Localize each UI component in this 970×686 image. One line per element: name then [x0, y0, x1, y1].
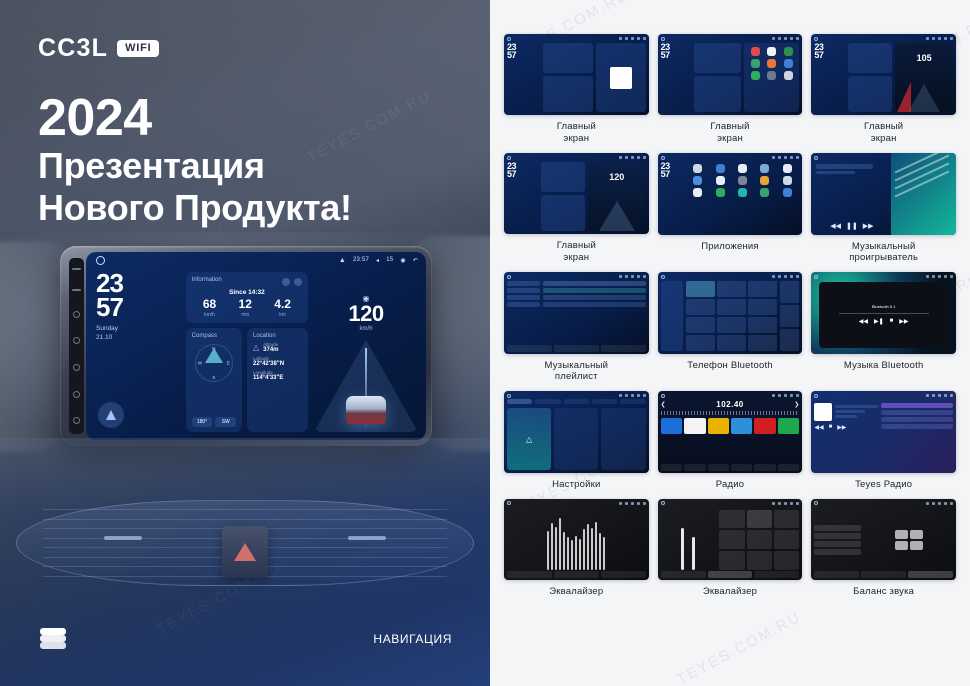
vent-slider-left[interactable] — [104, 536, 142, 540]
gallery-item[interactable]: Телефон Bluetooth — [658, 272, 803, 383]
head-unit-screen[interactable]: ▲ 23:57 ◂ 15 ◉ ↶ 23 57 Sunday 21.1 — [86, 252, 426, 440]
reset-icon[interactable] — [294, 278, 302, 286]
clock-day: Sunday — [96, 325, 180, 334]
thumbnail-sound-balance[interactable] — [811, 499, 956, 580]
thumbnail-home-drive2[interactable]: 2357 120 — [504, 153, 649, 234]
hero-panel: TEYES.COM.RU TEYES.COM.RU TEYES.COM.RU C… — [0, 0, 490, 686]
clock-widget[interactable]: 23 57 Sunday 21.10 — [96, 272, 180, 432]
thumbnail-home-media[interactable]: 2357 — [504, 34, 649, 115]
backspace-icon[interactable] — [780, 305, 799, 327]
caption: Главныйэкран — [864, 121, 903, 145]
gallery-item[interactable]: 2357 105 Главныйэкран — [811, 34, 956, 145]
caption: Эквалайзер — [703, 586, 757, 598]
speed-value: 120 — [314, 303, 418, 325]
longitude-value: 114°4'33"E — [253, 375, 302, 381]
car-3d-model — [346, 396, 386, 424]
clock-minutes: 57 — [96, 296, 180, 320]
compass-widget[interactable]: Compass N E S W 180° SW — [186, 328, 242, 432]
gallery-item[interactable]: Bluetooth 5.1 ◀◀ ▶❚ ■ ▶▶ Музыка Bluetoot… — [811, 272, 956, 383]
call-icon[interactable] — [780, 329, 799, 351]
brand-logo: CC3L WIFI — [38, 34, 159, 63]
thumb-speed: 120 — [588, 172, 646, 182]
volume-icon[interactable]: ◂ — [376, 257, 379, 264]
thumbnail-bt-music[interactable]: Bluetooth 5.1 ◀◀ ▶❚ ■ ▶▶ — [811, 272, 956, 353]
gallery-item[interactable]: △ Настройки — [504, 391, 649, 490]
prev-station-icon[interactable]: ❮ — [661, 401, 666, 408]
play-pause-icon[interactable]: ▶❚ — [874, 318, 884, 325]
caption: Настройки — [552, 479, 600, 491]
star-icon[interactable] — [780, 281, 799, 303]
location-title: Location — [253, 333, 302, 339]
back-button[interactable] — [73, 364, 80, 371]
vent-slider-right[interactable] — [348, 536, 386, 540]
watermark: TEYES.COM.RU — [674, 609, 804, 686]
altitude-value: 374m — [263, 347, 278, 353]
mode-button[interactable] — [73, 417, 80, 424]
thumbnail-playlist[interactable] — [504, 272, 649, 353]
thumb-speed: 105 — [895, 53, 953, 63]
thumbnail-radio[interactable]: ❮ 102.40 ❯ — [658, 391, 803, 472]
mute-button[interactable] — [73, 391, 80, 398]
thumbnail-bt-phone[interactable] — [658, 272, 803, 353]
gallery-item[interactable]: Эквалайзер — [658, 499, 803, 598]
caption: Главныйэкран — [710, 121, 749, 145]
caption: Teyes Радио — [855, 479, 912, 491]
back-arrow-icon[interactable]: ↶ — [413, 257, 418, 264]
hazard-light-button[interactable] — [222, 526, 268, 578]
headline-line1: Презентация — [38, 145, 468, 187]
status-time: 23:57 — [353, 257, 369, 263]
prev-icon[interactable]: ◀◀ — [814, 424, 823, 431]
gallery-item[interactable]: Эквалайзер — [504, 499, 649, 598]
wifi-icon: ▲ — [339, 257, 346, 264]
stat-item: 12 min — [239, 298, 252, 318]
gallery-item[interactable]: ◀◀ ■ ▶▶ Teyes Радио — [811, 391, 956, 490]
caption: Радио — [716, 479, 744, 491]
gallery-item[interactable]: 2357 120 Главныйэкран — [504, 153, 649, 264]
home-circle-icon[interactable] — [96, 256, 105, 265]
compass-direction: SW — [215, 417, 236, 427]
brand-name: CC3L — [38, 34, 108, 63]
stat-item: 68 km/h — [203, 298, 216, 318]
gallery-item[interactable]: ❮ 102.40 ❯ Радио — [658, 391, 803, 490]
stop-icon[interactable]: ■ — [890, 318, 894, 325]
mountain-icon: △ — [253, 343, 259, 352]
screens-gallery: TEYES.COM.RU TEYES.COM.RU TEYES.COM.RU T… — [490, 0, 970, 686]
thumbnail-equalizer-bars[interactable] — [504, 499, 649, 580]
side-buttons[interactable] — [69, 258, 84, 434]
headline-year: 2024 — [38, 92, 468, 145]
stat-item: 4.2 km — [274, 298, 291, 318]
gallery-item[interactable]: 2357 Главныйэкран — [658, 34, 803, 145]
thumbnail-teyes-radio[interactable]: ◀◀ ■ ▶▶ — [811, 391, 956, 472]
bt-version: Bluetooth 5.1 — [872, 304, 896, 309]
vol-up-button[interactable] — [72, 289, 81, 291]
lower-dashboard — [0, 438, 490, 686]
car-dashboard-photo: ▲ 23:57 ◂ 15 ◉ ↶ 23 57 Sunday 21.1 — [0, 232, 490, 686]
next-icon[interactable]: ▶▶ — [899, 318, 908, 325]
location-widget[interactable]: Location △ Altitude 374m Latitude — [247, 328, 308, 432]
thumbnail-apps[interactable]: 2357 — [658, 153, 803, 234]
thumbnail-player[interactable]: ◀◀ ❚❚ ▶▶ — [811, 153, 956, 234]
navigation-fab[interactable] — [98, 402, 124, 428]
drive-widget[interactable]: ◉ 120 km/h — [314, 272, 418, 432]
next-icon[interactable]: ▶▶ — [837, 424, 846, 431]
compass-title: Compass — [192, 333, 236, 339]
thumbnail-home-apps[interactable]: 2357 — [658, 34, 803, 115]
thumbnail-home-drive[interactable]: 2357 105 — [811, 34, 956, 115]
information-title: Information — [192, 277, 222, 283]
equalizer-sliders[interactable] — [504, 499, 649, 580]
gallery-item[interactable]: Музыкальныйплейлист — [504, 272, 649, 383]
since-label: Since 14:32 — [192, 289, 302, 296]
next-station-icon[interactable]: ❯ — [794, 401, 799, 408]
wifi-icon[interactable]: △ — [507, 408, 551, 469]
speed-unit: km/h — [314, 326, 418, 332]
gallery-item[interactable]: Баланс звука — [811, 499, 956, 598]
prev-icon[interactable]: ◀◀ — [859, 318, 868, 325]
caption: Телефон Bluetooth — [687, 360, 773, 372]
caption: Главныйэкран — [557, 121, 596, 145]
thumbnail-settings[interactable]: △ — [504, 391, 649, 472]
gallery-item[interactable]: ◀◀ ❚❚ ▶▶ Музыкальныйпроигрыватель — [811, 153, 956, 264]
power-button[interactable] — [73, 311, 80, 318]
compass-dial: N E S W — [195, 344, 233, 382]
caption: Эквалайзер — [549, 586, 603, 598]
clock-date: 21.10 — [96, 334, 180, 343]
navigation-label: НАВИГАЦИЯ — [373, 632, 452, 646]
caption: Музыкальныйплейлист — [544, 360, 608, 384]
prev-icon[interactable]: ◀◀ — [830, 222, 841, 230]
radio-frequency: 102.40 — [716, 400, 743, 409]
layers-icon — [40, 628, 66, 650]
latitude-value: 22°42'38"N — [253, 361, 302, 367]
volume-level: 15 — [386, 257, 393, 263]
caption: Приложения — [701, 241, 759, 253]
thumbnail-grid: 2357 Главныйэкран 2357 — [504, 34, 956, 598]
next-icon[interactable]: ▶▶ — [863, 222, 874, 230]
compass-bearing: 180° — [192, 417, 213, 427]
settings-icon[interactable] — [282, 278, 290, 286]
caption: Баланс звука — [853, 586, 914, 598]
pause-icon[interactable]: ❚❚ — [846, 222, 858, 230]
page-title: 2024 Презентация Нового Продукта! — [38, 92, 468, 229]
gallery-item[interactable]: 2357 Главныйэкран — [504, 34, 649, 145]
vol-down-button[interactable] — [72, 268, 81, 270]
thumbnail-equalizer-faders[interactable] — [658, 499, 803, 580]
headline-line2: Нового Продукта! — [38, 187, 468, 229]
status-bar: ▲ 23:57 ◂ 15 ◉ ↶ — [86, 252, 426, 268]
camera-icon[interactable]: ◉ — [400, 257, 405, 264]
information-widget[interactable]: Information Since 14:32 68 km/h — [186, 272, 308, 323]
caption: Музыка Bluetooth — [844, 360, 924, 372]
home-button[interactable] — [73, 337, 80, 344]
balance-pad[interactable] — [895, 530, 923, 550]
stop-icon[interactable]: ■ — [829, 424, 833, 431]
caption: Музыкальныйпроигрыватель — [849, 241, 918, 265]
caption: Главныйэкран — [557, 240, 596, 264]
wifi-badge: WIFI — [117, 40, 158, 56]
head-unit: ▲ 23:57 ◂ 15 ◉ ↶ 23 57 Sunday 21.1 — [60, 246, 432, 446]
gallery-item[interactable]: 2357 Приложения — [658, 153, 803, 264]
